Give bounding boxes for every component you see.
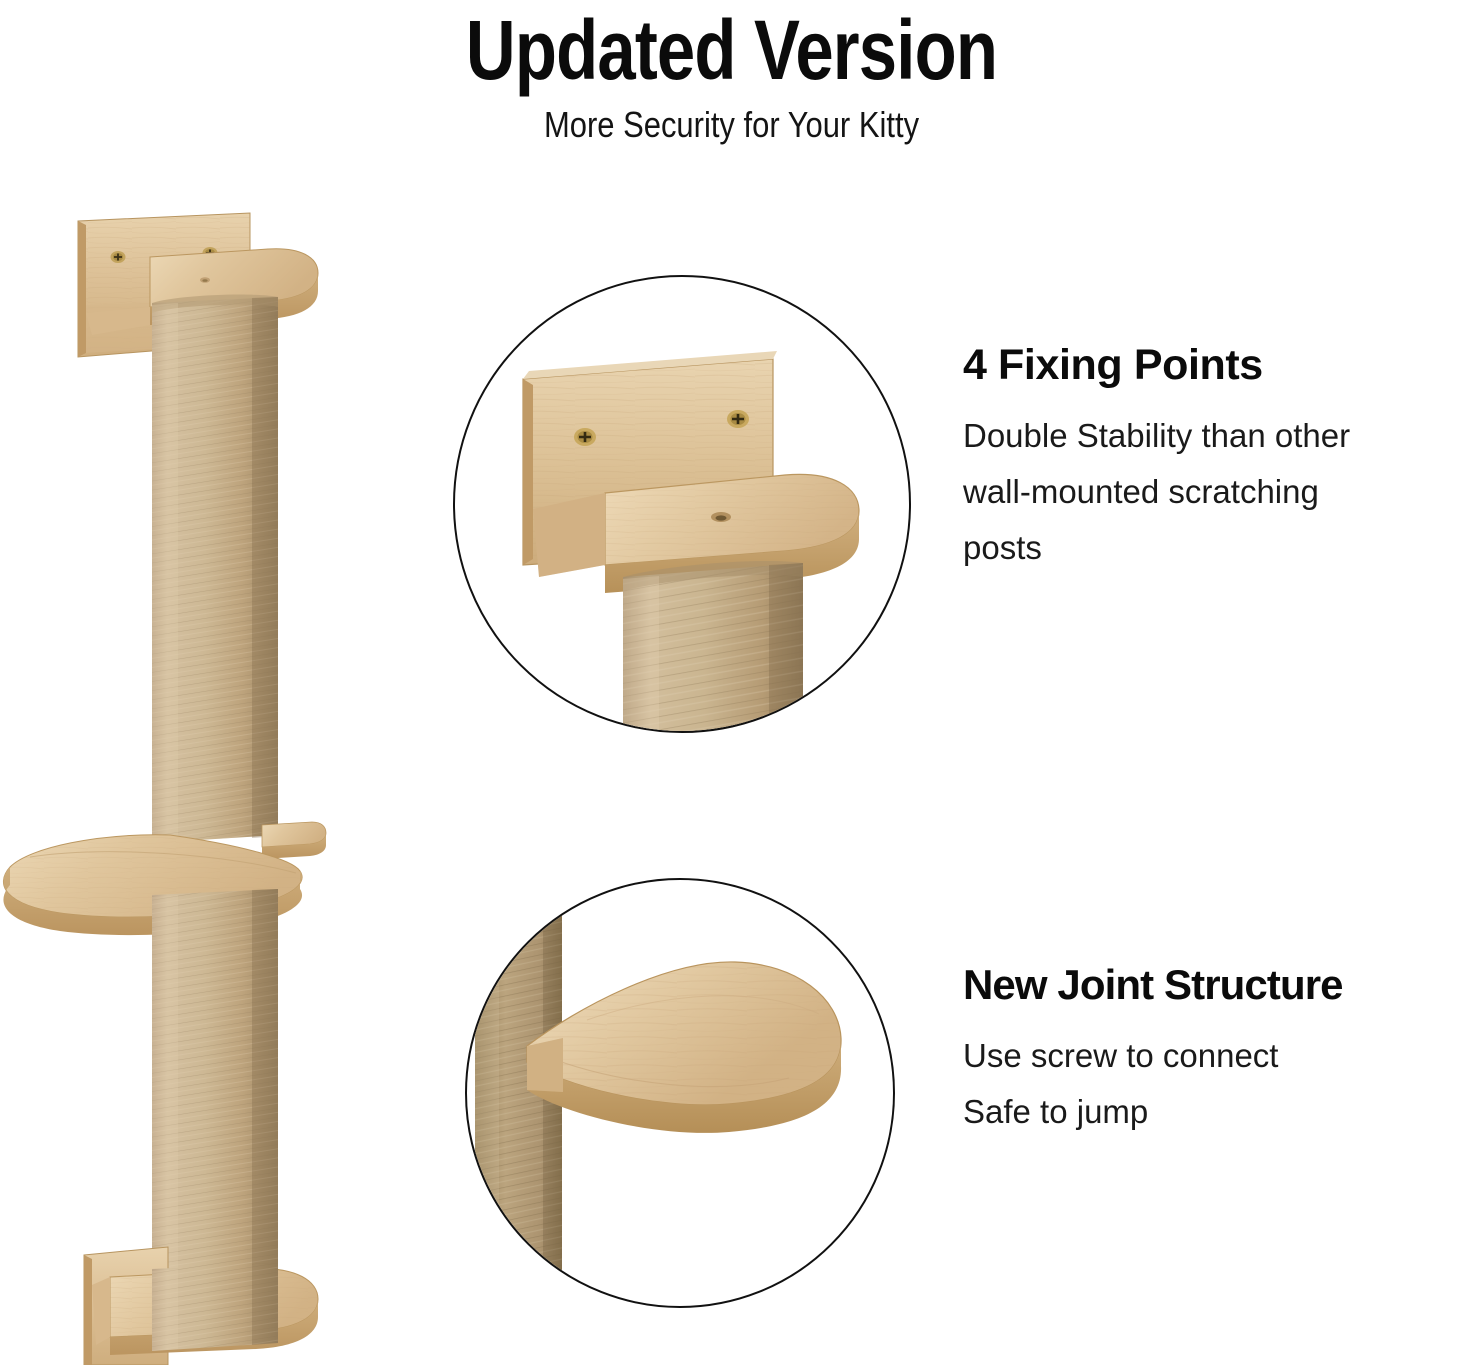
lower-sisal-post xyxy=(152,889,278,1313)
feature-body-line: wall-mounted scratching xyxy=(963,464,1463,520)
product-illustration xyxy=(0,195,440,1365)
feature-body-line: Double Stability than other xyxy=(963,408,1463,464)
bracket-screw-left xyxy=(111,251,126,263)
detail-screw-right xyxy=(727,410,749,428)
header: Updated Version More Security for Your K… xyxy=(0,0,1463,146)
feature-text-fixing-points: 4 Fixing Points Double Stability than ot… xyxy=(963,340,1463,576)
detail-screw-left xyxy=(574,428,596,446)
feature-text-joint-structure: New Joint Structure Use screw to connect… xyxy=(963,960,1463,1140)
feature-body-joint-structure: Use screw to connect Safe to jump xyxy=(963,1028,1463,1140)
callout-circle-joint-structure xyxy=(465,878,895,1308)
detail-sisal-post xyxy=(623,561,803,733)
lower-sisal-post-foot xyxy=(152,1263,278,1351)
bracket-with-screws-detail xyxy=(455,277,911,733)
product-photo xyxy=(0,195,440,1365)
feature-body-line: Use screw to connect xyxy=(963,1028,1463,1084)
detail-joint-shelf xyxy=(527,962,841,1133)
page-title: Updated Version xyxy=(132,0,1332,96)
page-subtitle: More Security for Your Kitty xyxy=(102,96,1360,146)
feature-body-line: Safe to jump xyxy=(963,1084,1463,1140)
feature-heading-joint-structure: New Joint Structure xyxy=(963,960,1463,1010)
shelf-joint-detail xyxy=(467,880,895,1308)
feature-heading-fixing-points: 4 Fixing Points xyxy=(963,340,1463,390)
feature-body-line: posts xyxy=(963,520,1463,576)
upper-sisal-post xyxy=(152,295,278,843)
feature-body-fixing-points: Double Stability than other wall-mounted… xyxy=(963,408,1463,576)
callout-circle-fixing-points xyxy=(453,275,911,733)
